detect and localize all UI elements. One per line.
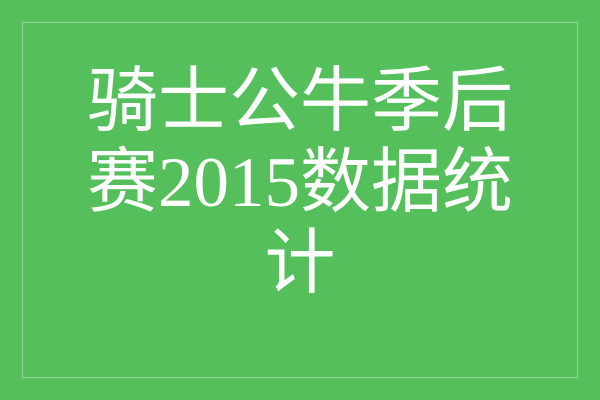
poster-canvas: 骑士公牛季后赛2015数据统计 (0, 0, 600, 400)
page-title: 骑士公牛季后赛2015数据统计 (79, 62, 521, 305)
title-block: 骑士公牛季后赛2015数据统计 (0, 0, 600, 400)
